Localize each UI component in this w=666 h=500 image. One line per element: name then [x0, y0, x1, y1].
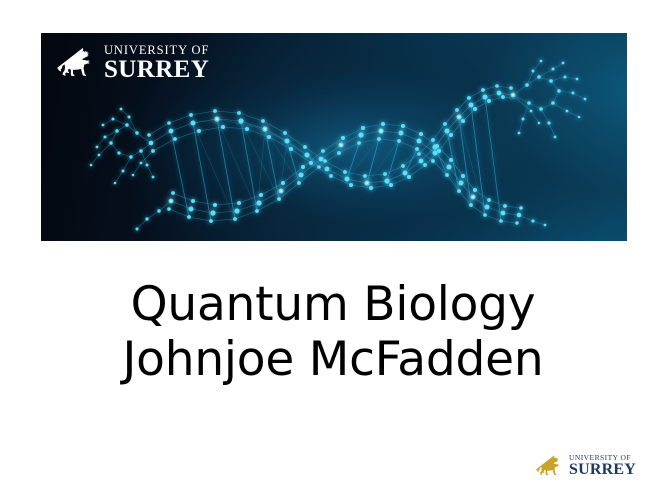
banner-logo-line1: UNIVERSITY OF [104, 44, 209, 57]
slide-canvas: UNIVERSITY OF SURREY Quantum Biology Joh… [0, 0, 666, 500]
title-line-1: Quantum Biology [0, 278, 666, 333]
banner-logo-wordmark: UNIVERSITY OF SURREY [104, 44, 209, 83]
surrey-stag-icon [57, 43, 97, 83]
footer-university-logo: UNIVERSITY OF SURREY [536, 452, 636, 480]
dna-banner-image: UNIVERSITY OF SURREY [41, 33, 627, 241]
banner-university-logo: UNIVERSITY OF SURREY [57, 43, 209, 83]
banner-logo-line2: SURREY [104, 57, 209, 82]
surrey-stag-icon [536, 452, 564, 480]
footer-logo-line2: SURREY [569, 462, 636, 478]
slide-title: Quantum Biology Johnjoe McFadden [0, 278, 666, 387]
footer-logo-wordmark: UNIVERSITY OF SURREY [569, 454, 636, 479]
footer-logo-line1: UNIVERSITY OF [569, 454, 636, 462]
title-line-2: Johnjoe McFadden [0, 333, 666, 388]
